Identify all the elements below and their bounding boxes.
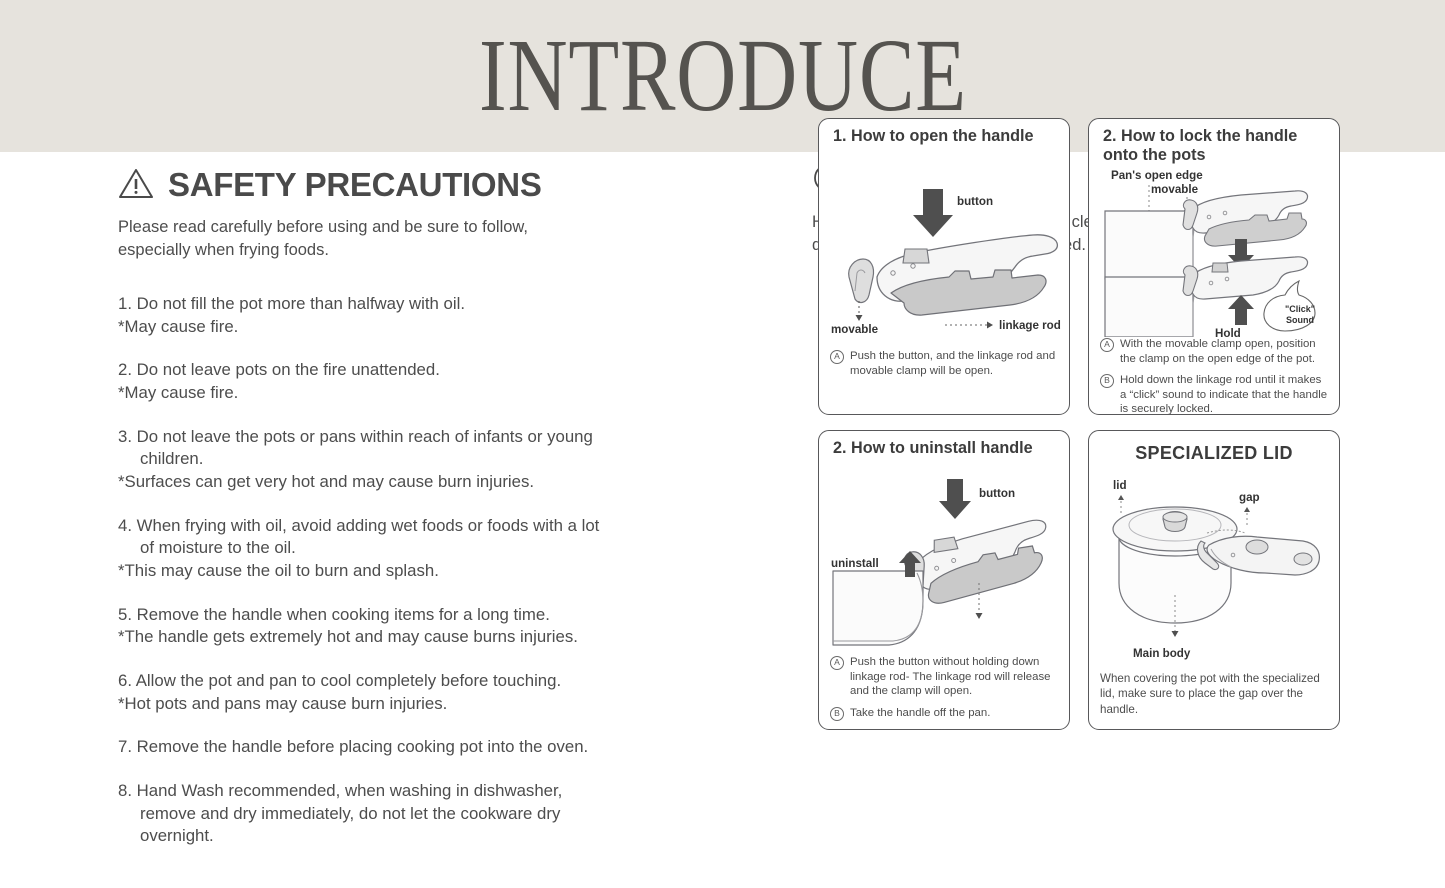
safety-item-line: 4. When frying with oil, avoid adding we… [118, 515, 678, 538]
card-title: 2. How to uninstall handle [833, 439, 1059, 458]
safety-list: 1. Do not fill the pot more than halfway… [118, 293, 678, 848]
card-title: SPECIALIZED LID [1089, 443, 1339, 465]
label-hold: Hold [1215, 327, 1241, 337]
safety-item-note: *Hot pots and pans may cause burn injuri… [118, 693, 678, 716]
caption-mark: A [1100, 338, 1114, 352]
card-title: 2. How to lock the handle onto the pots [1103, 127, 1329, 166]
specialized-lid-note: When covering the pot with the specializ… [1100, 671, 1330, 717]
label-gap: gap [1239, 491, 1260, 504]
card-open-handle[interactable]: 1. How to open the handle button [818, 118, 1070, 415]
caption-text: Push the button without holding down lin… [850, 655, 1060, 699]
safety-item-note: *May cause fire. [118, 316, 678, 339]
caption-text: With the movable clamp open, position th… [1120, 337, 1330, 366]
pot-body [833, 571, 923, 645]
button-arrow-icon [939, 479, 971, 519]
safety-intro-line-1: Please read carefully before using and b… [118, 216, 678, 239]
safety-item-line: remove and dry immediately, do not let t… [118, 803, 678, 826]
specialized-lid-illustration: lid gap [1089, 475, 1339, 665]
card-uninstall-handle[interactable]: 2. How to uninstall handle button [818, 430, 1070, 730]
caption-text: Take the handle off the pan. [850, 706, 1060, 721]
caption-mark: A [830, 656, 844, 670]
caption-mark: B [830, 707, 844, 721]
safety-item-note: *This may cause the oil to burn and spla… [118, 560, 678, 583]
safety-intro-line-2: especially when frying foods. [118, 239, 678, 262]
label-sound: Sound [1286, 315, 1314, 325]
card-captions: A With the movable clamp open, position … [1100, 337, 1330, 415]
list-item: 3. Do not leave the pots or pans within … [118, 426, 678, 494]
safety-precautions-section: SAFETY PRECAUTIONS Please read carefully… [118, 166, 678, 869]
safety-item-line: 7. Remove the handle before placing cook… [118, 736, 678, 759]
label-movable: movable [1151, 183, 1199, 196]
caption-mark: B [1100, 374, 1114, 388]
open-handle-illustration: button movable [819, 153, 1069, 333]
movable-clamp [849, 259, 874, 302]
safety-heading-row: SAFETY PRECAUTIONS [118, 166, 678, 204]
label-movable: movable [831, 323, 879, 333]
label-click: "Click" [1285, 304, 1315, 314]
caption-row: A Push the button without holding down l… [830, 655, 1060, 699]
safety-item-line: overnight. [118, 825, 678, 848]
safety-item-line: 6. Allow the pot and pan to cool complet… [118, 670, 678, 693]
safety-item-line: children. [118, 448, 678, 471]
list-item: 6. Allow the pot and pan to cool complet… [118, 670, 678, 715]
label-uninstall: uninstall [831, 557, 879, 570]
safety-heading: SAFETY PRECAUTIONS [168, 166, 542, 204]
safety-intro: Please read carefully before using and b… [118, 216, 678, 263]
list-item: 2. Do not leave pots on the fire unatten… [118, 359, 678, 404]
introduce-page: INTRODUCE SAFETY PRECAUTIONS Please read… [0, 0, 1445, 888]
safety-item-note: *May cause fire. [118, 382, 678, 405]
label-linkage-rod: linkage rod [999, 319, 1061, 332]
caption-row: B Take the handle off the pan. [830, 706, 1060, 721]
card-title-line-2: onto the pots [1103, 146, 1329, 165]
safety-item-line: of moisture to the oil. [118, 537, 678, 560]
card-title-line-1: 2. How to lock the handle [1103, 127, 1329, 146]
label-button: button [979, 487, 1015, 500]
label-main-body: Main body [1133, 647, 1191, 660]
list-item: 1. Do not fill the pot more than halfway… [118, 293, 678, 338]
card-specialized-lid[interactable]: SPECIALIZED LID lid gap [1088, 430, 1340, 730]
hold-up-arrow-icon [1228, 295, 1254, 325]
card-captions: A Push the button, and the linkage rod a… [830, 349, 1060, 385]
safety-item-note: *The handle gets extremely hot and may c… [118, 626, 678, 649]
safety-item-line: 1. Do not fill the pot more than halfway… [118, 293, 678, 316]
caption-row: A With the movable clamp open, position … [1100, 337, 1330, 366]
safety-item-line: 8. Hand Wash recommended, when washing i… [118, 780, 678, 803]
list-item: 8. Hand Wash recommended, when washing i… [118, 780, 678, 848]
label-pans-open-edge: Pan's open edge [1111, 169, 1203, 182]
safety-item-line: 2. Do not leave pots on the fire unatten… [118, 359, 678, 382]
caption-text: Push the button, and the linkage rod and… [850, 349, 1060, 378]
uninstall-handle-illustration: button [819, 465, 1069, 650]
card-captions: A Push the button without holding down l… [830, 655, 1060, 728]
safety-item-note: *Surfaces can get very hot and may cause… [118, 471, 678, 494]
button-arrow-icon [913, 189, 953, 237]
card-captions: When covering the pot with the specializ… [1100, 671, 1330, 717]
caption-text: Hold down the linkage rod until it makes… [1120, 373, 1330, 415]
safety-item-line: 3. Do not leave the pots or pans within … [118, 426, 678, 449]
card-title: 1. How to open the handle [833, 127, 1059, 146]
how-to-use-cards: 1. How to open the handle button [812, 118, 1346, 738]
label-lid: lid [1113, 479, 1127, 492]
pot-top-view [1105, 211, 1194, 279]
page-title: INTRODUCE [479, 24, 967, 128]
safety-item-line: 5. Remove the handle when cooking items … [118, 604, 678, 627]
list-item: 7. Remove the handle before placing cook… [118, 736, 678, 759]
caption-row: A Push the button, and the linkage rod a… [830, 349, 1060, 378]
pot-bottom-view [1105, 277, 1194, 337]
list-item: 4. When frying with oil, avoid adding we… [118, 515, 678, 583]
lock-handle-illustration: Pan's open edge movable [1089, 167, 1339, 337]
detachable-handle [1198, 536, 1320, 575]
caption-mark: A [830, 350, 844, 364]
list-item: 5. Remove the handle when cooking items … [118, 604, 678, 649]
handle-button-nub [903, 249, 929, 263]
card-lock-handle[interactable]: 2. How to lock the handle onto the pots … [1088, 118, 1340, 415]
caption-row: B Hold down the linkage rod until it mak… [1100, 373, 1330, 415]
warning-triangle-icon [118, 167, 154, 204]
label-button: button [957, 195, 993, 208]
